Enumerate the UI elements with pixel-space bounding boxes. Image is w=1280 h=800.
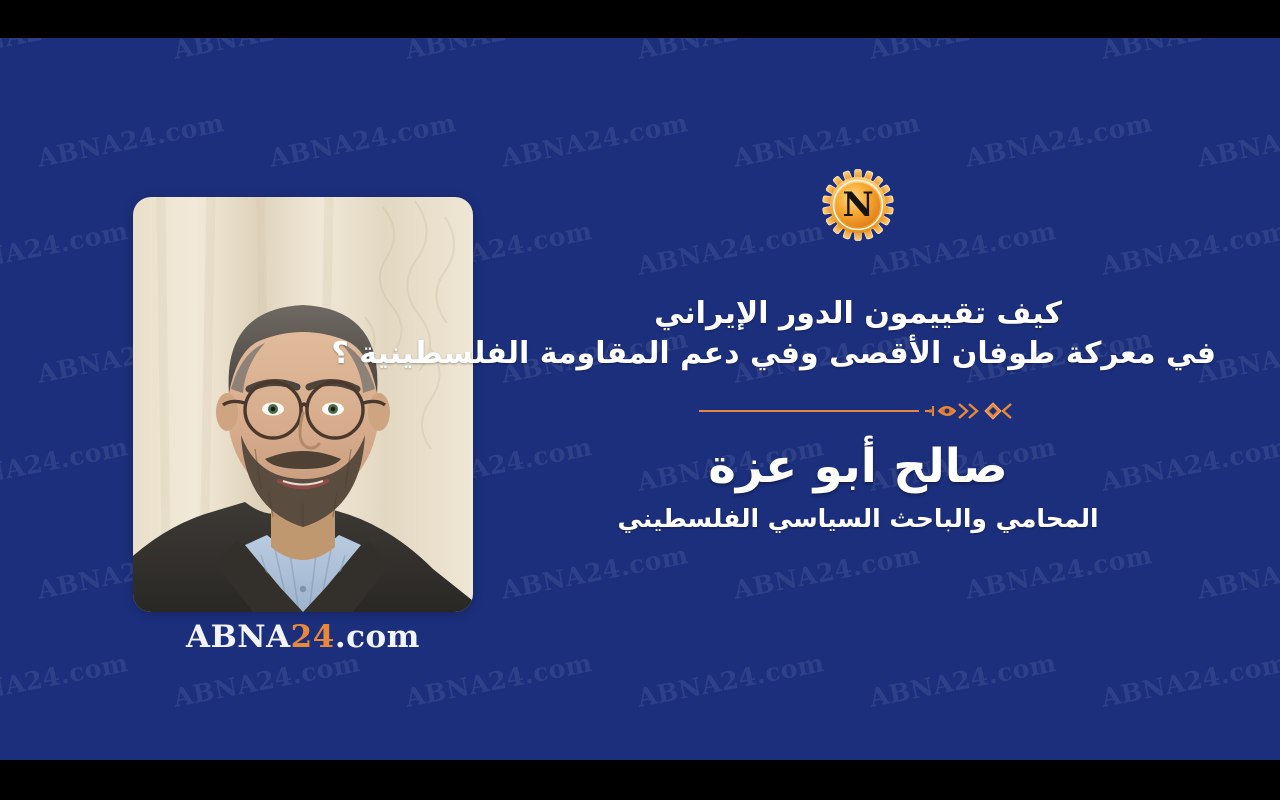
- speaker-portrait: [133, 197, 473, 612]
- watermark-text: ABNA24.com: [0, 648, 131, 713]
- brand-abna: ABNA: [186, 619, 291, 655]
- watermark-text: ABNA24.com: [403, 38, 595, 65]
- watermark-text: ABNA24.com: [171, 648, 363, 713]
- question-line-1: كيف تقييمون الدور الإيراني: [500, 294, 1216, 334]
- watermark-text: ABNA24.com: [267, 108, 459, 173]
- brand-dotcom: .com: [335, 619, 420, 655]
- watermark-text: ABNA24.com: [0, 38, 131, 65]
- bottom-black-bar: [0, 760, 1280, 800]
- site-brand-under-photo: ABNA24.com: [133, 622, 473, 653]
- watermark-text: ABNA24.com: [35, 108, 227, 173]
- top-black-bar: [0, 0, 1280, 38]
- main-canvas: ABNA24.comABNA24.comABNA24.comABNA24.com…: [0, 38, 1280, 760]
- watermark-text: ABNA24.com: [0, 432, 131, 497]
- question-line-2: في معركة طوفان الأقصى وفي دعم المقاومة ا…: [500, 334, 1216, 374]
- watermark-text: ABNA24.com: [171, 38, 363, 65]
- logo-monogram-text: N: [842, 185, 873, 225]
- ornamental-diamond-divider-icon: [697, 400, 1019, 422]
- speaker-name: صالح أبو عزة: [708, 438, 1008, 497]
- question-headline: كيف تقييمون الدور الإيراني في معركة طوفا…: [500, 294, 1216, 374]
- speaker-role: المحامي والباحث السياسي الفلسطيني: [617, 503, 1098, 536]
- watermark-text: ABNA24.com: [635, 38, 827, 65]
- watermark-text: ABNA24.com: [0, 216, 131, 281]
- watermark-text: ABNA24.com: [1099, 38, 1280, 65]
- video-still-stage: ABNA24.comABNA24.comABNA24.comABNA24.com…: [0, 0, 1280, 800]
- brand-24: 24: [291, 619, 335, 655]
- content-panel: N كيف تقييمون الدور الإيراني في معركة طو…: [500, 148, 1216, 668]
- watermark-text: ABNA24.com: [867, 38, 1059, 65]
- abna-sunburst-medallion-icon: N: [821, 168, 895, 242]
